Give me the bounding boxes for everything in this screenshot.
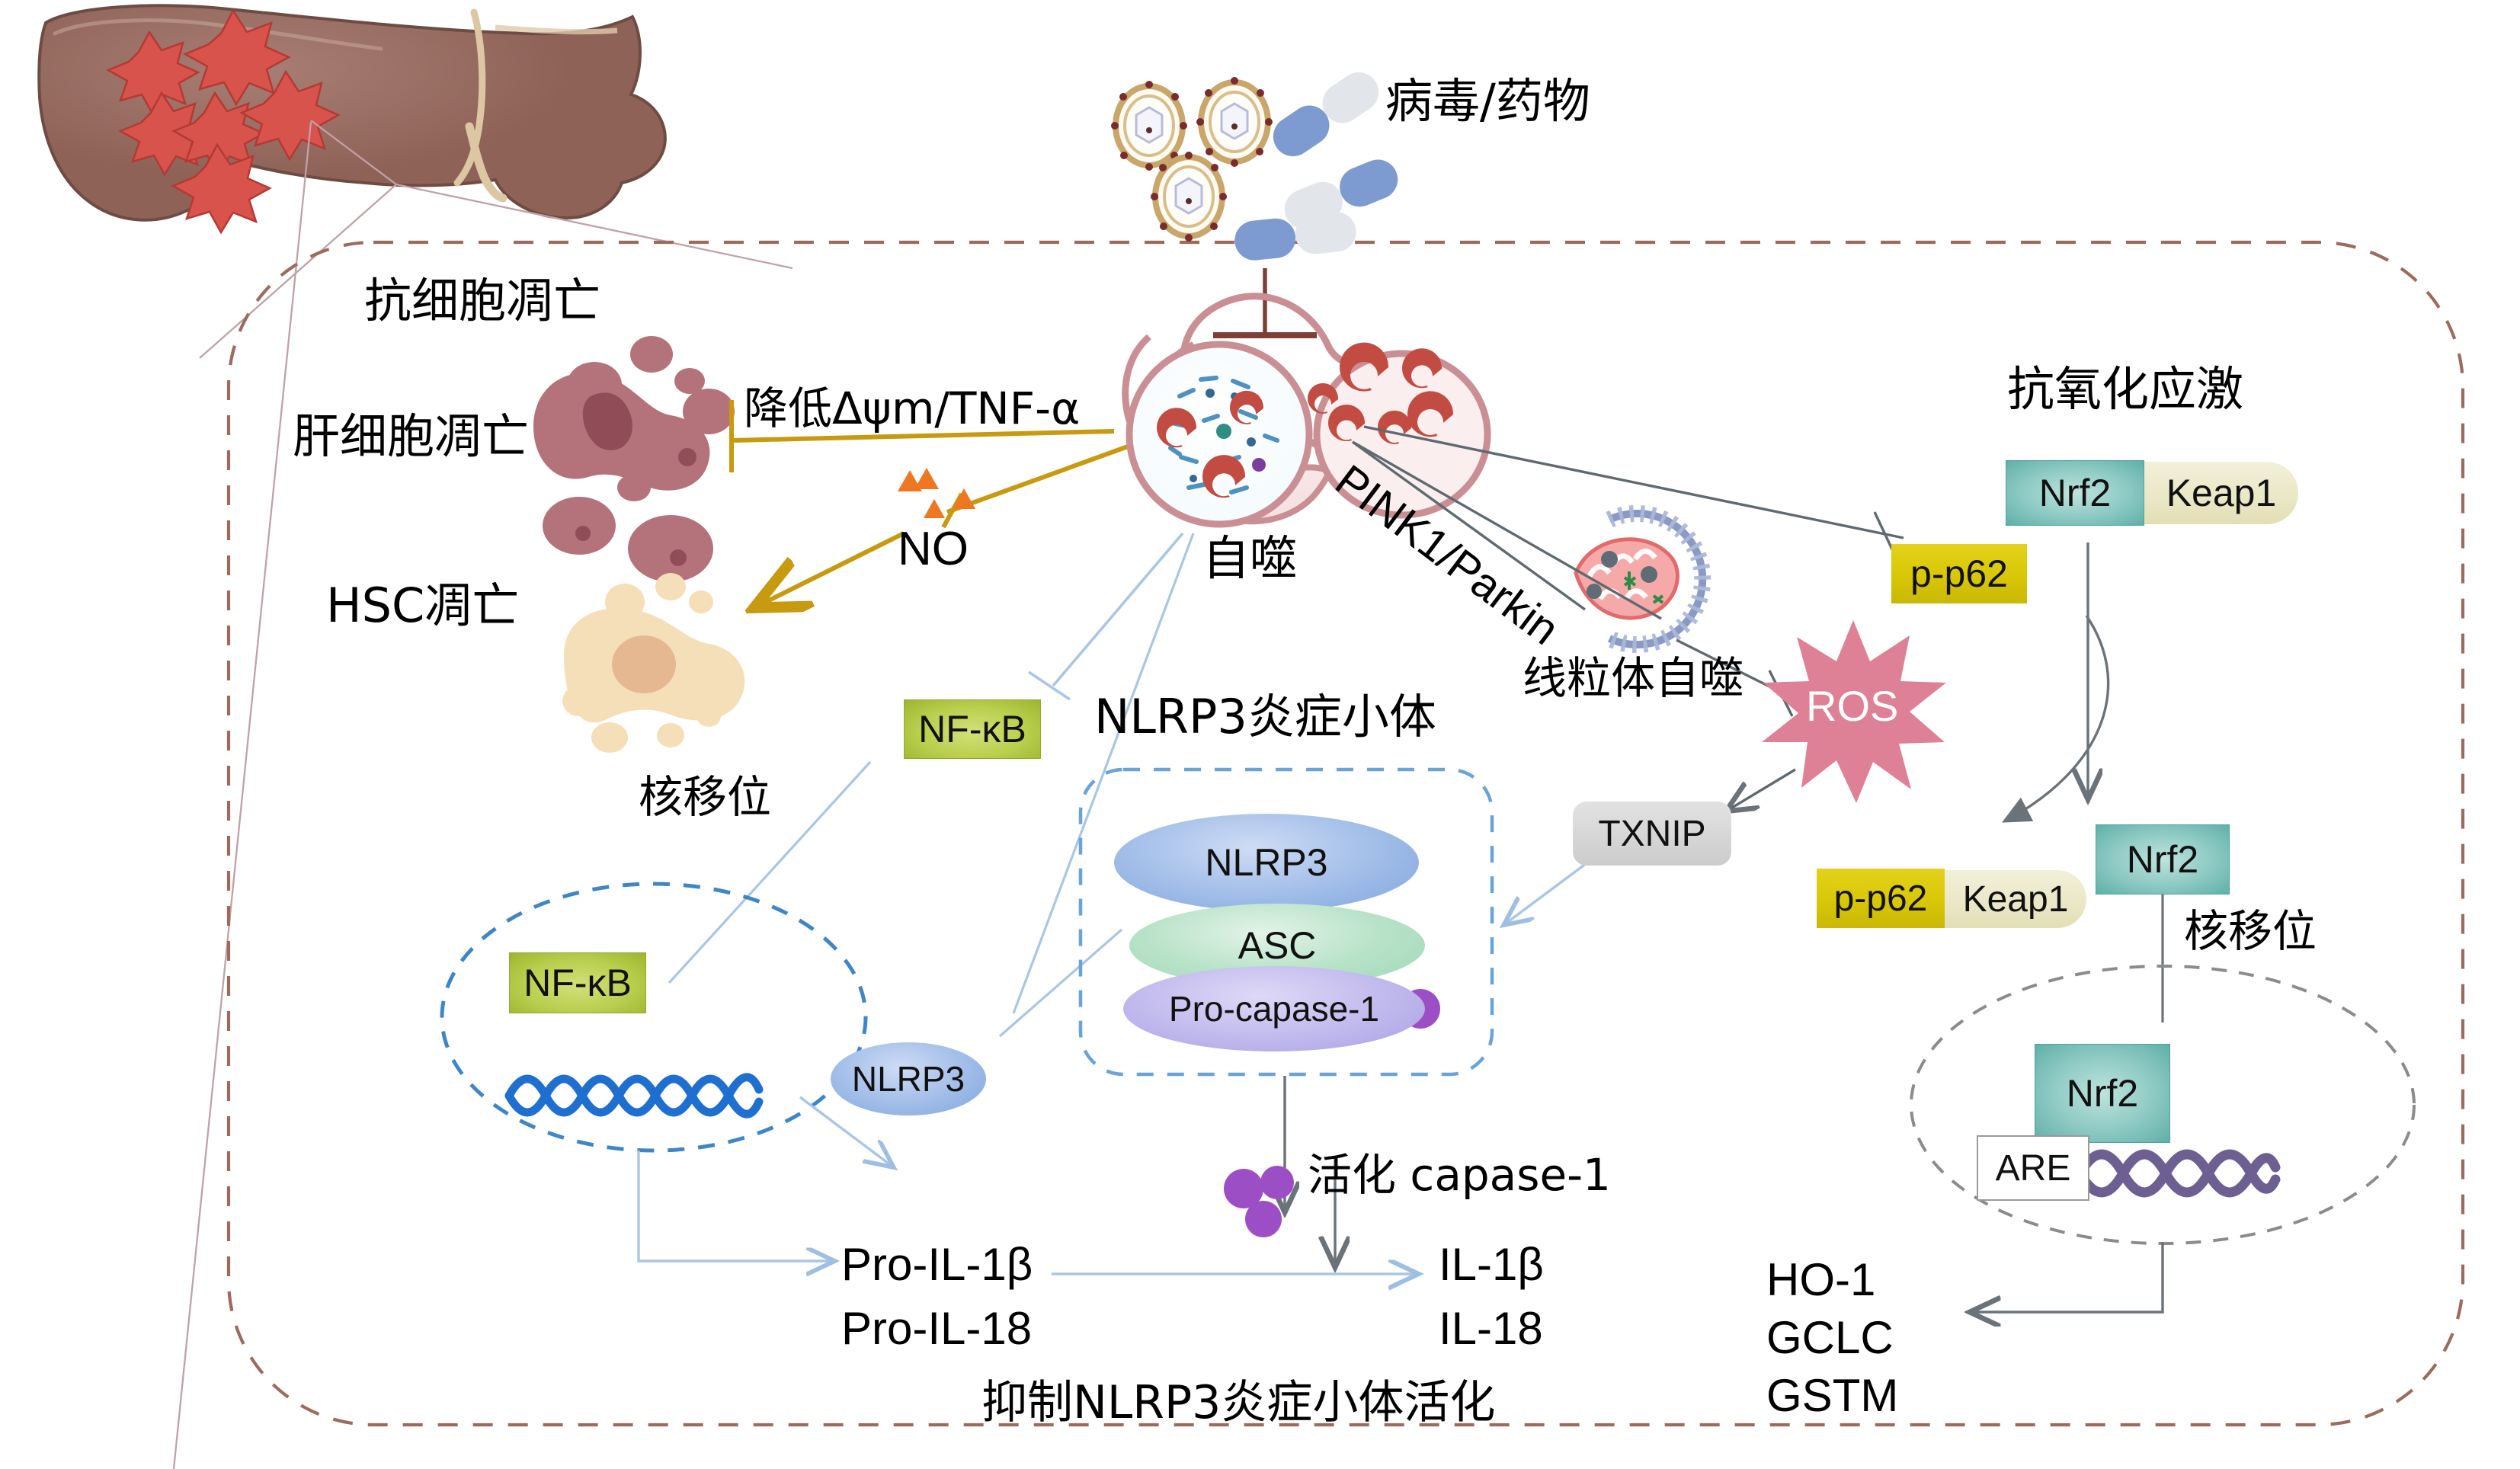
pp62-complex-left[interactable]: p-p62 xyxy=(1817,869,1945,928)
drug-capsules xyxy=(1233,65,1404,262)
nucleus-to-targets-arrow xyxy=(1972,1242,2163,1312)
target-ho1-label: HO-1 xyxy=(1766,1256,1875,1304)
nfkb-nucleus-box[interactable]: NF-κB xyxy=(509,952,646,1013)
active-capase-dots xyxy=(1224,1166,1294,1237)
nuclear-translocation-right-label: 核移位 xyxy=(2184,908,2317,955)
bottom-caption: 抑制NLRP3炎症小体活化 xyxy=(981,1379,1495,1427)
autophagy-label: 自噬 xyxy=(1202,533,1297,583)
virus-drug-label: 病毒/药物 xyxy=(1385,76,1590,126)
pink1-parkin-label: PINK1/Parkin xyxy=(1327,457,1567,654)
txnip-to-inflammasome-arrow xyxy=(1506,861,1590,923)
pathway-diagram: 病毒/药物 抗细胞凋亡 肝细胞凋亡 HSC凋亡 降低Δψm/TNF-α NO 自… xyxy=(0,0,2520,1469)
pro-il-18-label: Pro-IL-18 xyxy=(841,1304,1032,1352)
il-18-label: IL-18 xyxy=(1439,1304,1543,1352)
nucleus-left xyxy=(442,884,866,1151)
ros-to-txnip-arrow xyxy=(1728,770,1795,810)
autophagosome-cell xyxy=(1126,296,1487,524)
pp62-curve-arrow xyxy=(2004,616,2109,821)
inflammasome-nlrp3-ellipse[interactable]: NLRP3 xyxy=(1114,814,1419,911)
nfkb-cytosol-box[interactable]: NF-κB xyxy=(904,699,1041,759)
dna-helix-purple xyxy=(2080,1154,2275,1192)
active-capase-label: 活化 capase-1 xyxy=(1308,1152,1611,1199)
hepatocyte-apoptosis-label: 肝细胞凋亡 xyxy=(293,411,529,461)
ros-label: ROS xyxy=(1806,684,1898,729)
mitophagy-icon xyxy=(1576,514,1702,645)
inflammasome-procapase-ellipse[interactable]: Pro-capase-1 xyxy=(1123,966,1425,1051)
inflammation-foci xyxy=(108,11,338,232)
nlrp3-free-ellipse[interactable]: NLRP3 xyxy=(831,1042,986,1115)
pp62-box[interactable]: p-p62 xyxy=(1891,544,2027,603)
pro-il-1b-label: Pro-IL-1β xyxy=(841,1240,1033,1288)
nuclear-translocation-left-label: 核移位 xyxy=(639,774,771,821)
autophagy-inhibit-nfkb xyxy=(1029,533,1183,699)
keap1-top-box[interactable]: Keap1 xyxy=(2144,462,2298,524)
reduce-psi-tnf-label: 降低Δψm/TNF-α xyxy=(744,386,1080,432)
dna-helix-blue xyxy=(509,1077,759,1114)
nrf2-top-box[interactable]: Nrf2 xyxy=(2006,460,2144,526)
no-molecule-icons xyxy=(898,468,975,518)
nlrp3-to-complex-line xyxy=(1000,930,1122,1036)
hsc-apoptosis-label: HSC凋亡 xyxy=(326,581,519,630)
hsc-cell xyxy=(562,573,744,753)
nucleus-to-proil-arrow xyxy=(639,1151,832,1261)
target-gstm-label: GSTM xyxy=(1766,1371,1898,1419)
nrf2-nucleus-box[interactable]: Nrf2 xyxy=(2035,1044,2170,1143)
mitophagy-label: 线粒体自噬 xyxy=(1523,655,1744,702)
virus-particles xyxy=(1111,77,1273,242)
inflammasome-title: NLRP3炎症小体 xyxy=(1094,692,1436,741)
anti-apoptosis-label: 抗细胞凋亡 xyxy=(364,276,600,325)
liver-illustration xyxy=(39,5,793,1469)
target-gclc-label: GCLC xyxy=(1766,1314,1894,1362)
apoptotic-hepatocyte xyxy=(533,336,735,582)
anti-oxidative-stress-label: 抗氧化应激 xyxy=(2007,364,2243,414)
txnip-box[interactable]: TXNIP xyxy=(1573,802,1731,866)
are-box[interactable]: ARE xyxy=(1977,1135,2089,1201)
il-1b-label: IL-1β xyxy=(1439,1240,1544,1288)
virus-inhibit-arrow xyxy=(1213,268,1317,335)
no-label: NO xyxy=(898,524,969,574)
pp62-complex-keap1[interactable]: Keap1 xyxy=(1945,870,2086,928)
nrf2-cytosol-box[interactable]: Nrf2 xyxy=(2096,824,2230,895)
